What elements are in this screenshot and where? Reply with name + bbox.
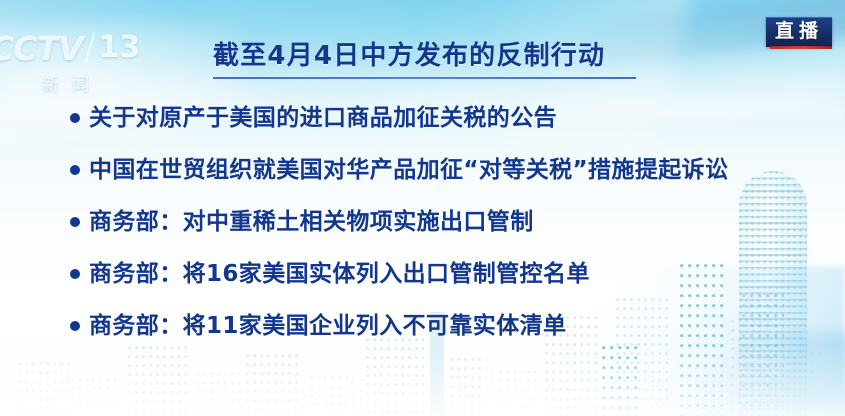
bullet-dot-icon (70, 217, 80, 227)
list-item: 商务部：对中重稀土相关物项实施出口管制 (70, 207, 830, 259)
list-item: 商务部：将16家美国实体列入出口管制管控名单 (70, 259, 830, 311)
bullet-dot-icon (70, 165, 80, 175)
bullet-dot-icon (70, 113, 80, 123)
list-item-label: 中国在世贸组织就美国对华产品加征“对等关税”措施提起诉讼 (89, 155, 728, 185)
live-badge-label: 直播 (775, 21, 823, 43)
list-item-label: 商务部：将11家美国企业列入不可靠实体清单 (89, 311, 566, 341)
live-badge-red-underline (770, 46, 832, 49)
cctv13-logo-row: CCTV 13 (0, 28, 160, 68)
headline-underline (213, 77, 636, 79)
news-graphic-screen: CCTV 13 新闻 直播 截至4月4日中方发布的反制行动 关于对原产于美国的进… (0, 0, 845, 416)
headline-block: 截至4月4日中方发布的反制行动 (213, 42, 653, 79)
cctv-wordmark: CCTV (0, 32, 83, 65)
channel-name-label: 新闻 (0, 70, 160, 95)
list-item-label: 商务部：对中重稀土相关物项实施出口管制 (89, 207, 534, 237)
logo-slash-divider (84, 33, 95, 63)
bullet-dot-icon (70, 321, 80, 331)
list-item: 商务部：将11家美国企业列入不可靠实体清单 (70, 311, 830, 363)
list-item-label: 商务部：将16家美国实体列入出口管制管控名单 (89, 259, 590, 289)
list-item: 中国在世贸组织就美国对华产品加征“对等关税”措施提起诉讼 (70, 155, 830, 207)
list-item: 关于对原产于美国的进口商品加征关税的公告 (70, 103, 830, 155)
live-badge: 直播 (766, 17, 832, 47)
bullet-dot-icon (70, 269, 80, 279)
page-title: 截至4月4日中方发布的反制行动 (213, 42, 653, 71)
cctv13-logo: CCTV 13 新闻 (0, 28, 160, 94)
channel-number: 13 (99, 33, 141, 63)
bullet-list: 关于对原产于美国的进口商品加征关税的公告 中国在世贸组织就美国对华产品加征“对等… (70, 103, 830, 363)
list-item-label: 关于对原产于美国的进口商品加征关税的公告 (89, 103, 557, 133)
